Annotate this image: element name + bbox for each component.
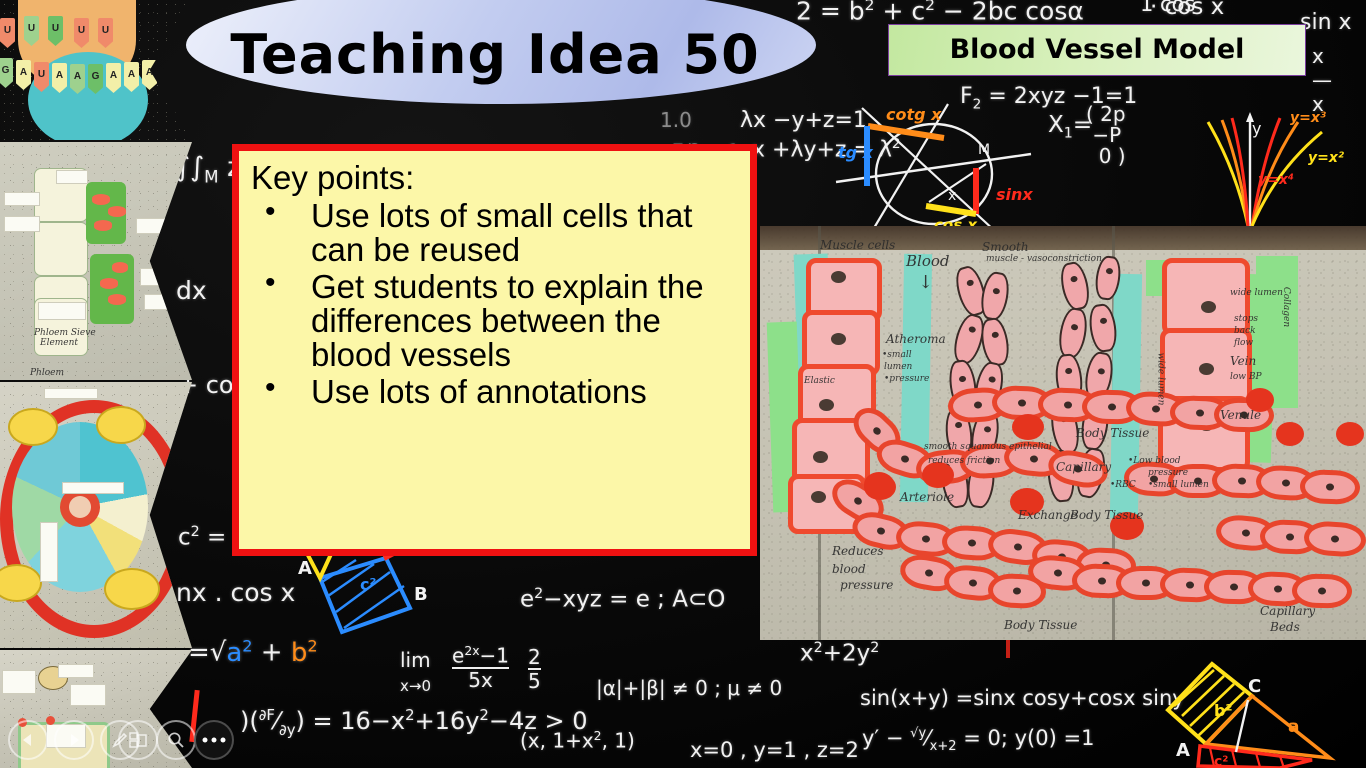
curve-label-x3: y=x³ xyxy=(1290,110,1326,126)
label-tg: tg x xyxy=(838,143,874,162)
axis-label-y: y xyxy=(1252,119,1261,138)
formula-x2-2y2: x2+2y2 xyxy=(800,640,879,667)
unit-circle-diagram: cotg x tg x sinx cos x M x xyxy=(826,96,1056,236)
formula-plane: x=0 , y=1 , z=2 xyxy=(690,738,859,762)
vertex-B: B xyxy=(414,584,428,605)
formula-faint-1: 1.0 xyxy=(660,108,692,132)
key-points-heading: Key points: xyxy=(251,159,740,197)
formula-ode: y′ − √y⁄x+2 = 0; y(0) =1 xyxy=(862,726,1094,754)
slide-canvas: 2 = b2 + c2 − 2bc cosα · cos x sin x x—x… xyxy=(0,0,1366,768)
key-points-list: Use lots of small cells that can be reus… xyxy=(249,199,740,409)
formula-ellipse-eq: e2−xyz = e ; A⊂O xyxy=(520,586,725,613)
banner-label: Blood Vessel Model xyxy=(889,25,1305,75)
formula-xy-tuple: (x, 1+x2, 1) xyxy=(520,728,635,753)
thumbnail-phloem-sieve-element-model[interactable]: Phloem Sieve Element Phloem xyxy=(0,142,192,380)
more-options-button[interactable] xyxy=(194,720,234,760)
prev-slide-button[interactable] xyxy=(8,720,48,760)
square-label-b2: b² xyxy=(1214,701,1232,720)
status-badge: Blood Vessel Model xyxy=(888,24,1306,76)
next-slide-button[interactable] xyxy=(54,720,94,760)
thumbnail-dna-translation-model[interactable]: G A U A A G A A A A U U U U U xyxy=(0,0,192,140)
curve-label-x4: y=x⁴ xyxy=(1258,172,1294,188)
key-points-box: Key points: Use lots of small cells that… xyxy=(232,144,757,556)
formula-abs-ineq: |α|+|β| ≠ 0 ; μ ≠ 0 xyxy=(596,676,782,700)
formula-matrix-vector: ( 2p −P 0 ) xyxy=(1086,104,1126,167)
formula-sinx-right: sin x xyxy=(1300,10,1352,35)
page-title: Teaching Idea 50 xyxy=(205,12,785,98)
formula-pythag-a: 2 = b2 + c2 − 2bc cosα xyxy=(796,0,1084,25)
slide-layout-icon[interactable] xyxy=(118,720,158,760)
search-icon[interactable] xyxy=(156,720,196,760)
power-function-graph: y y=x³ y=x² y=x⁴ xyxy=(1140,100,1366,228)
square-label-c2: c² xyxy=(1214,754,1228,768)
thumbnail-cell-cycle-wheel-model[interactable] xyxy=(0,382,192,648)
vertex-A: A xyxy=(1176,740,1190,761)
vertex-A: A xyxy=(298,558,312,579)
curve-label-x2: y=x² xyxy=(1308,150,1345,166)
list-item: Get students to explain the differences … xyxy=(259,270,740,371)
formula-tan-cos: nx . cos x xyxy=(176,578,295,607)
list-item: Use lots of small cells that can be reus… xyxy=(259,199,740,266)
formula-sin-sum: sin(x+y) =sinx cosy+cosx siny xyxy=(860,686,1185,710)
square-label-c2: c² xyxy=(360,575,377,594)
label-sin: sinx xyxy=(996,185,1033,204)
thumbnail-strip: G A U A A G A A A A U U U U U xyxy=(0,0,192,768)
formula-limit-value: 25 xyxy=(528,646,541,692)
label-angle-x: x xyxy=(948,188,956,204)
label-M: M xyxy=(978,142,990,158)
label-cotg: cotg x xyxy=(886,105,942,124)
blood-vessel-model-photo[interactable]: Blood ↓ Muscle cells Smooth muscle - vas… xyxy=(760,226,1366,640)
formula-top-right-1: 1 cos xyxy=(1140,0,1195,16)
pythagoras-diagram-right: C A b² a c² xyxy=(1140,648,1366,768)
vertex-C: C xyxy=(1248,676,1261,697)
list-item: Use lots of annotations xyxy=(259,375,740,409)
side-label-a: a xyxy=(1288,717,1299,737)
